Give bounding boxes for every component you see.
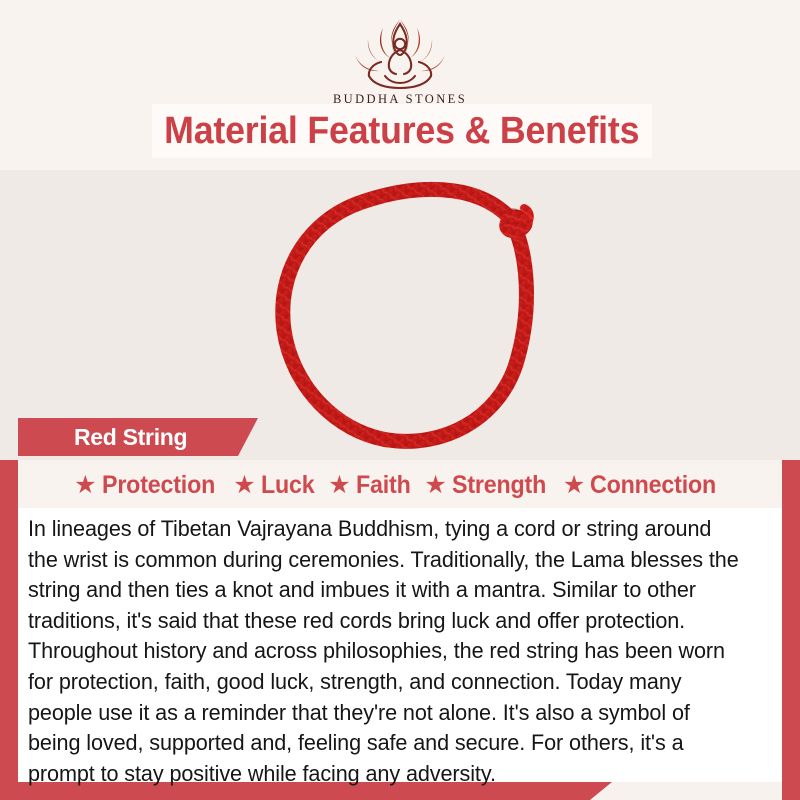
benefit-label: Connection <box>590 471 716 500</box>
title-plate: Material Features & Benefits <box>152 104 652 158</box>
star-icon: ★ <box>563 473 585 498</box>
red-string-bracelet-image <box>228 168 572 460</box>
benefit-item: ★ Luck <box>233 471 318 500</box>
star-icon: ★ <box>74 473 96 498</box>
benefit-item: ★ Strength <box>424 471 553 500</box>
page-title: Material Features & Benefits <box>164 110 639 153</box>
benefit-label: Protection <box>102 471 215 500</box>
benefit-label: Faith <box>356 471 411 500</box>
star-icon: ★ <box>328 473 350 498</box>
benefits-row: ★ Protection ★ Luck ★ Faith ★ Strength ★… <box>18 462 782 508</box>
benefit-item: ★ Faith <box>328 471 414 500</box>
star-icon: ★ <box>424 473 446 498</box>
benefit-label: Luck <box>261 471 315 500</box>
product-label-banner: Red String <box>18 418 258 456</box>
benefit-label: Strength <box>452 471 546 500</box>
benefit-item: ★ Connection <box>563 471 726 500</box>
product-photo-area <box>0 170 800 460</box>
brand-logo: BUDDHA STONES <box>0 14 800 107</box>
star-icon: ★ <box>233 473 255 498</box>
infographic-poster: BUDDHA STONES Material Features & Benefi… <box>0 0 800 800</box>
product-label: Red String <box>74 424 187 451</box>
lotus-meditation-icon <box>327 14 473 90</box>
description-text: In lineages of Tibetan Vajrayana Buddhis… <box>28 514 742 789</box>
benefit-item: ★ Protection <box>74 471 223 500</box>
description-panel: In lineages of Tibetan Vajrayana Buddhis… <box>18 508 782 782</box>
